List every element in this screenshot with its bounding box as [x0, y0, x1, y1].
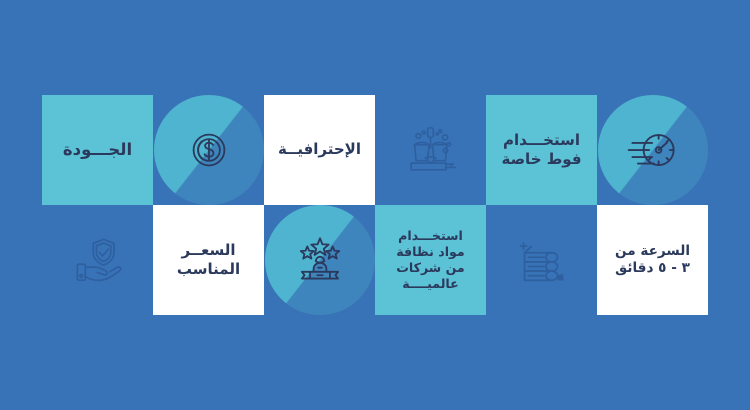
mop-bucket-icon [399, 118, 463, 182]
feature-tile-award-stars[interactable] [264, 205, 375, 315]
feature-tile-fair-price[interactable]: السعــر المناسب [153, 205, 264, 315]
feature-tile-folded-towels[interactable] [486, 205, 597, 315]
feature-label-quality: الجـــودة [42, 139, 153, 160]
feature-label-line-3: من شركات [381, 260, 480, 276]
feature-label-speed-time: السرعة من ٣ - ٥ دقائق [597, 243, 708, 278]
feature-tile-speed-time[interactable]: السرعة من ٣ - ٥ دقائق [597, 205, 708, 315]
feature-label-line-1: السرعة من [603, 243, 702, 260]
feature-tile-quality[interactable]: الجـــودة [42, 95, 153, 205]
feature-tile-cleaning-supplies[interactable] [375, 95, 486, 205]
award-person-stars-icon [288, 228, 352, 292]
feature-label-line-1: استخـــدام [381, 228, 480, 244]
feature-label-line-2: فوط خاصة [492, 150, 591, 169]
feature-tile-professionalism[interactable]: الإحترافيــة [264, 95, 375, 205]
feature-label-line-1: استخـــدام [492, 131, 591, 150]
feature-tile-price-coin[interactable] [153, 95, 264, 205]
feature-tile-trust-shield[interactable] [42, 205, 153, 315]
infographic-canvas: الجـــودة الإحترافيــة [0, 0, 750, 410]
feature-label-line-2: ٣ - ٥ دقائق [603, 260, 702, 277]
feature-tile-speed-dial[interactable] [597, 95, 708, 205]
features-grid: الجـــودة الإحترافيــة [42, 95, 708, 315]
feature-tile-global-materials[interactable]: استخـــدام مواد نظافة من شركات عالميــــ… [375, 205, 486, 315]
feature-label-line-4: عالميــــة [381, 276, 480, 292]
feature-label-special-towels: استخـــدام فوط خاصة [486, 131, 597, 169]
hand-shield-check-icon [66, 228, 130, 292]
feature-tile-special-towels[interactable]: استخـــدام فوط خاصة [486, 95, 597, 205]
feature-label-line-2: المناسب [159, 260, 258, 279]
feature-label-global-materials: استخـــدام مواد نظافة من شركات عالميــــ… [375, 228, 486, 292]
feature-label-line-2: مواد نظافة [381, 244, 480, 260]
dollar-coin-icon [177, 118, 241, 182]
speedometer-icon [621, 118, 685, 182]
feature-label-fair-price: السعــر المناسب [153, 241, 264, 279]
feature-label-professionalism: الإحترافيــة [264, 140, 375, 159]
feature-label-line-1: السعــر [159, 241, 258, 260]
folded-towels-icon [510, 228, 574, 292]
